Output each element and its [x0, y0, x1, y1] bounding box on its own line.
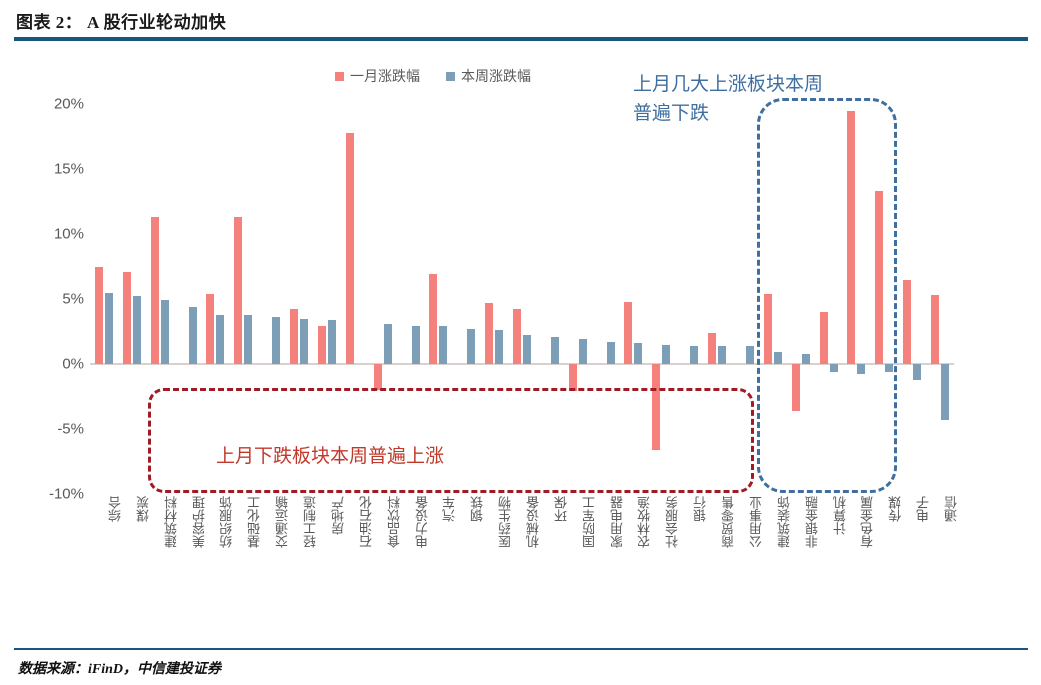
- bar-group: [146, 104, 174, 494]
- bar-group: [926, 104, 954, 494]
- bar-group: [397, 104, 425, 494]
- bar-group: [452, 104, 480, 494]
- x-axis-tick-label: 纺织服饰: [220, 496, 233, 548]
- legend-item-2[interactable]: 本周涨跌幅: [446, 66, 531, 86]
- bar-group: [201, 104, 229, 494]
- bar-series-container: [90, 104, 954, 494]
- bar-month[interactable]: [485, 303, 493, 364]
- bar-week[interactable]: [300, 319, 308, 365]
- bar-month[interactable]: [346, 133, 354, 364]
- x-axis-tick-label: 美容护理: [193, 496, 206, 548]
- x-axis-tick-label: 商贸零售: [722, 496, 735, 548]
- x-axis-labels: 综合煤炭建筑材料美容护理纺织服饰基础化工交通运输轻工制造房地产石油石化食品饮料电…: [90, 496, 954, 626]
- bar-group: [424, 104, 452, 494]
- bar-month[interactable]: [290, 309, 298, 364]
- bar-week[interactable]: [941, 364, 949, 420]
- x-axis-tick-label: 家用电器: [611, 496, 624, 548]
- bar-month[interactable]: [652, 364, 660, 450]
- x-axis-tick-label: 医药生物: [499, 496, 512, 548]
- bar-week[interactable]: [913, 364, 921, 380]
- x-axis-tick-label: 食品饮料: [388, 496, 401, 548]
- bar-week[interactable]: [830, 364, 838, 372]
- red-annotation-text: 上月下跌板块本周普遍上涨: [216, 441, 444, 468]
- y-axis-tick: 5%: [24, 291, 84, 308]
- bar-group: [313, 104, 341, 494]
- bar-month[interactable]: [151, 217, 159, 364]
- bar-week[interactable]: [523, 335, 531, 364]
- bar-month[interactable]: [234, 217, 242, 364]
- bar-month[interactable]: [820, 312, 828, 364]
- bar-week[interactable]: [662, 345, 670, 365]
- bar-group: [592, 104, 620, 494]
- bar-month[interactable]: [513, 309, 521, 364]
- bar-group: [870, 104, 898, 494]
- bar-group: [257, 104, 285, 494]
- x-axis-tick-label: 社会服务: [666, 496, 679, 548]
- bar-group: [731, 104, 759, 494]
- x-axis-tick-label: 机械设备: [527, 496, 540, 548]
- x-axis-tick-label: 传媒: [889, 496, 902, 522]
- bar-month[interactable]: [847, 111, 855, 365]
- y-axis-tick: 10%: [24, 226, 84, 243]
- bar-group: [564, 104, 592, 494]
- bar-group: [843, 104, 871, 494]
- chart-page: 图表 2： A 股行业轮动加快 一月涨跌幅本周涨跌幅 -10%-5%0%5%10…: [0, 0, 1041, 685]
- x-axis-tick-label: 建筑材料: [165, 496, 178, 548]
- bar-week[interactable]: [189, 307, 197, 364]
- bar-month[interactable]: [569, 364, 577, 391]
- bar-group: [174, 104, 202, 494]
- bar-month[interactable]: [206, 294, 214, 364]
- bar-group: [675, 104, 703, 494]
- bar-week[interactable]: [272, 317, 280, 364]
- x-axis-tick-label: 公用事业: [750, 496, 763, 548]
- bar-group: [787, 104, 815, 494]
- bar-group: [508, 104, 536, 494]
- x-axis-tick-label: 轻工制造: [304, 496, 317, 548]
- bar-week[interactable]: [634, 343, 642, 364]
- x-axis-tick-label: 电力设备: [416, 496, 429, 548]
- legend-item-1[interactable]: 一月涨跌幅: [335, 66, 420, 86]
- chart-legend: 一月涨跌幅本周涨跌幅: [335, 66, 531, 86]
- x-axis-tick-label: 钢铁: [471, 496, 484, 522]
- bar-month[interactable]: [903, 280, 911, 365]
- bar-week[interactable]: [607, 342, 615, 364]
- x-axis-tick-label: 煤炭: [137, 496, 150, 522]
- x-axis-tick-label: 通信: [945, 496, 958, 522]
- y-axis-tick: -5%: [24, 421, 84, 438]
- bar-group: [536, 104, 564, 494]
- legend-swatch-icon: [335, 72, 344, 81]
- bar-group: [647, 104, 675, 494]
- y-axis-labels: -10%-5%0%5%10%15%20%: [22, 104, 84, 494]
- bar-week[interactable]: [579, 339, 587, 364]
- plot-area: [90, 104, 954, 494]
- bar-month[interactable]: [374, 364, 382, 390]
- bar-week[interactable]: [690, 346, 698, 364]
- bar-group: [285, 104, 313, 494]
- x-axis-tick-label: 建筑装饰: [778, 496, 791, 548]
- bar-group: [369, 104, 397, 494]
- x-axis-tick-label: 有色金属: [861, 496, 874, 548]
- bar-week[interactable]: [718, 346, 726, 364]
- bar-week[interactable]: [133, 296, 141, 364]
- source-note: 数据来源：iFinD，中信建投证券: [18, 658, 221, 678]
- bar-group: [90, 104, 118, 494]
- y-axis-tick: 20%: [24, 96, 84, 113]
- legend-label: 一月涨跌幅: [350, 66, 420, 86]
- blue-annotation-line-2: 普遍下跌: [633, 99, 903, 128]
- x-axis-tick-label: 国防军工: [583, 496, 596, 548]
- x-axis-tick-label: 综合: [109, 496, 122, 522]
- x-axis-tick-label: 房地产: [332, 496, 345, 535]
- chart-header: 图表 2： A 股行业轮动加快: [0, 0, 1041, 44]
- bar-week[interactable]: [774, 352, 782, 364]
- page-title: 图表 2： A 股行业轮动加快: [16, 8, 226, 33]
- bar-week[interactable]: [746, 346, 754, 364]
- bar-week[interactable]: [244, 315, 252, 364]
- x-axis-tick-label: 交通运输: [276, 496, 289, 548]
- x-axis-tick-label: 环保: [555, 496, 568, 522]
- bar-week[interactable]: [328, 320, 336, 364]
- x-axis-tick-label: 非银金融: [806, 496, 819, 548]
- footer-divider: [14, 648, 1028, 650]
- legend-label: 本周涨跌幅: [461, 66, 531, 86]
- bar-group: [759, 104, 787, 494]
- x-axis-tick-label: 石油石化: [360, 496, 373, 548]
- bar-group: [703, 104, 731, 494]
- bar-week[interactable]: [412, 326, 420, 364]
- x-axis-tick-label: 计算机: [834, 496, 847, 535]
- x-axis-tick-label: 基础化工: [248, 496, 261, 548]
- bar-group: [620, 104, 648, 494]
- bar-month[interactable]: [708, 333, 716, 364]
- y-axis-tick: -10%: [24, 486, 84, 503]
- bar-week[interactable]: [495, 330, 503, 364]
- x-axis-tick-label: 农林牧渔: [638, 496, 651, 548]
- y-axis-tick: 15%: [24, 161, 84, 178]
- bar-group: [229, 104, 257, 494]
- x-axis-tick-label: 汽车: [443, 496, 456, 522]
- bar-group: [898, 104, 926, 494]
- bar-month[interactable]: [931, 295, 939, 364]
- bar-week[interactable]: [216, 315, 224, 364]
- bar-group: [480, 104, 508, 494]
- y-axis-tick: 0%: [24, 356, 84, 373]
- bar-week[interactable]: [105, 293, 113, 365]
- x-axis-tick-label: 电子: [917, 496, 930, 522]
- x-axis-tick-label: 银行: [694, 496, 707, 522]
- bar-week[interactable]: [384, 324, 392, 364]
- bar-week[interactable]: [161, 300, 169, 364]
- bar-group: [341, 104, 369, 494]
- bar-group: [118, 104, 146, 494]
- bar-group: [815, 104, 843, 494]
- bar-week[interactable]: [802, 354, 810, 364]
- bar-week[interactable]: [551, 337, 559, 364]
- bar-month[interactable]: [792, 364, 800, 411]
- legend-swatch-icon: [446, 72, 455, 81]
- bar-month[interactable]: [875, 191, 883, 364]
- bar-week[interactable]: [467, 329, 475, 364]
- bar-week[interactable]: [885, 364, 893, 372]
- bar-week[interactable]: [439, 326, 447, 364]
- bar-month[interactable]: [123, 272, 131, 364]
- bar-month[interactable]: [624, 302, 632, 364]
- bar-month[interactable]: [764, 294, 772, 364]
- blue-annotation-line-1: 上月几大上涨板块本周: [633, 70, 903, 99]
- bar-month[interactable]: [429, 274, 437, 364]
- bar-month[interactable]: [95, 267, 103, 365]
- blue-annotation-text: 上月几大上涨板块本周 普遍下跌: [633, 70, 903, 129]
- bar-month[interactable]: [318, 326, 326, 364]
- bar-week[interactable]: [857, 364, 865, 374]
- title-divider: [14, 37, 1028, 41]
